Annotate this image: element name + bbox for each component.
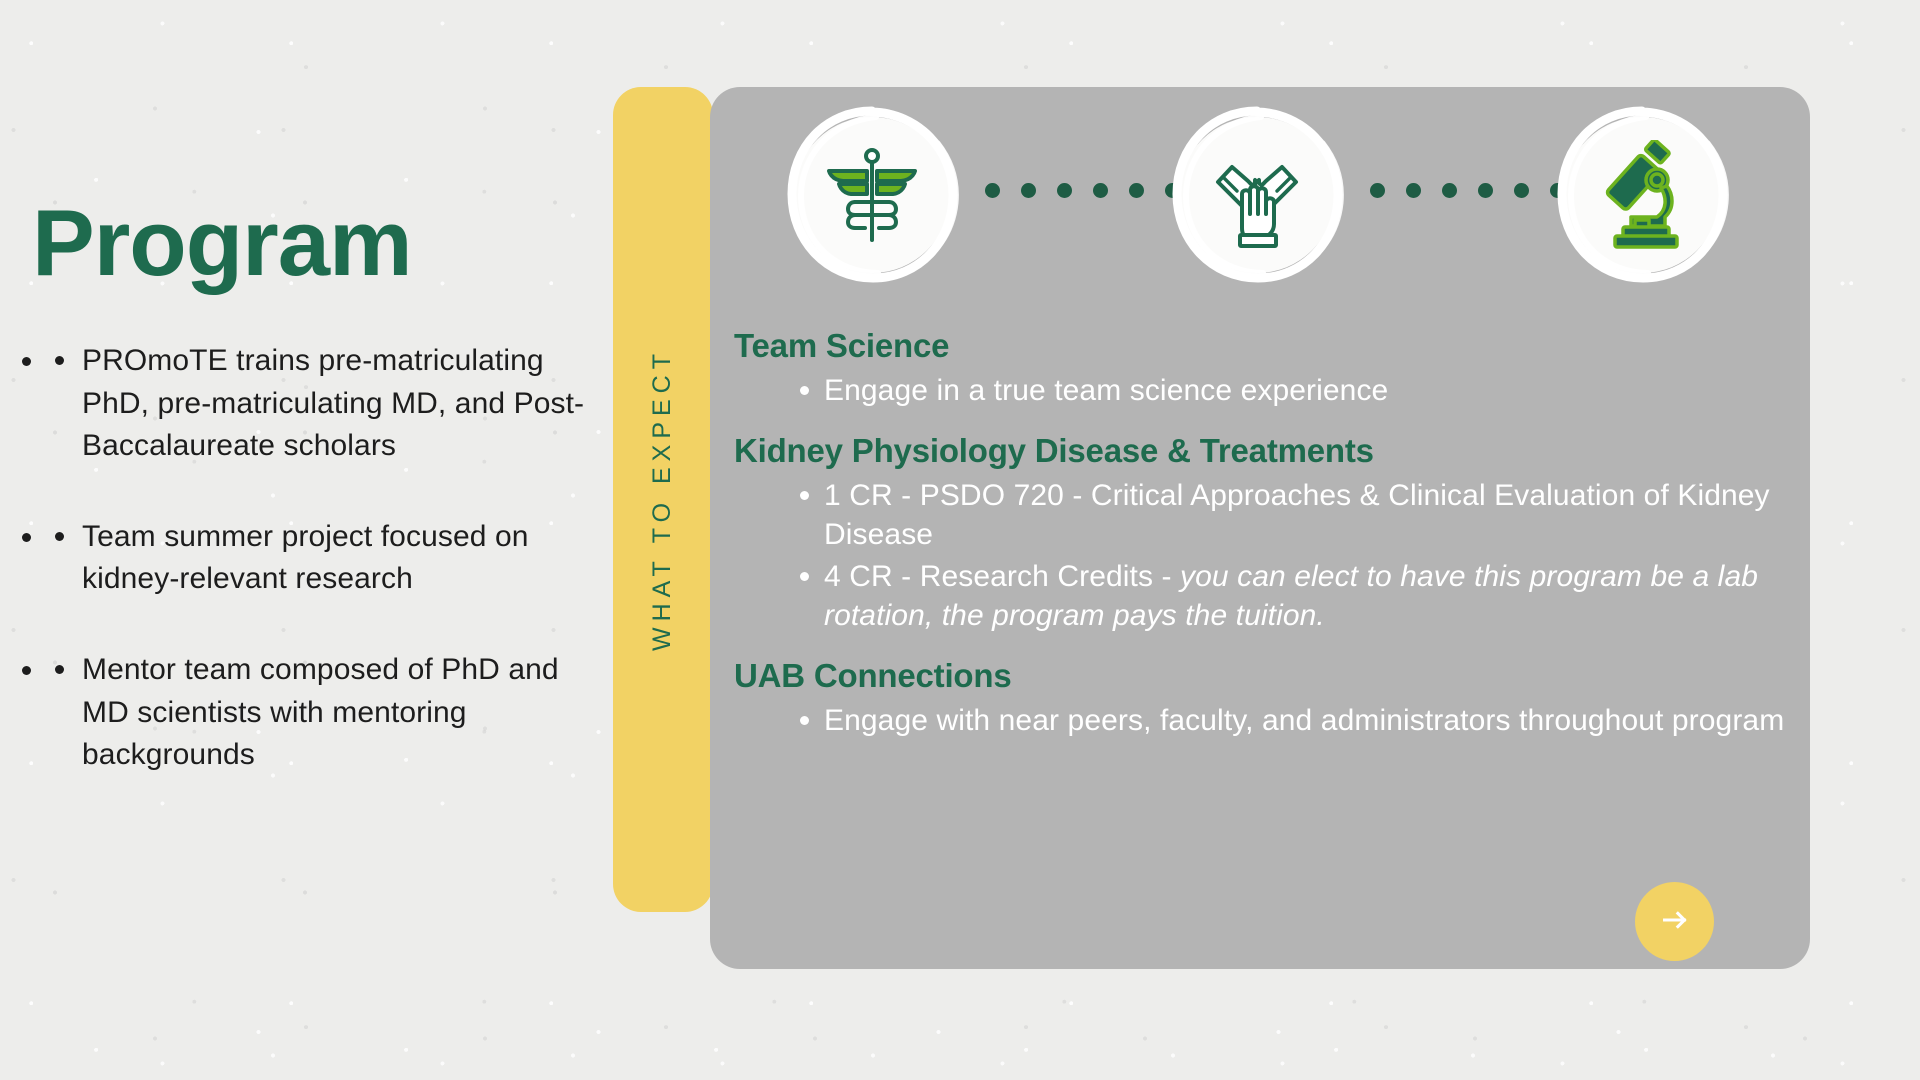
- section-item-list: Engage in a true team science experience: [796, 371, 1810, 410]
- section-item-list: 1 CR - PSDO 720 - Critical Approaches & …: [796, 476, 1810, 635]
- caduceus-badge: [772, 95, 972, 295]
- bullet-dot: [55, 356, 64, 365]
- section-item-list: Engage with near peers, faculty, and adm…: [796, 701, 1810, 740]
- section-item-text: Engage in a true team science experience: [824, 374, 1388, 407]
- section-item: 1 CR - PSDO 720 - Critical Approaches & …: [796, 476, 1810, 554]
- section-heading: UAB Connections: [734, 657, 1810, 695]
- program-bullet: Mentor team composed of PhD and MD scien…: [46, 649, 586, 777]
- section-heading: Team Science: [734, 327, 1810, 365]
- bullet-dot: [800, 572, 809, 581]
- bullet-dot: [800, 491, 809, 500]
- what-to-expect-label-wrap: WHAT TO EXPECT: [613, 87, 713, 912]
- connector-dot: [1442, 183, 1457, 198]
- connector-dot: [1514, 183, 1529, 198]
- bullet-dot: [800, 386, 809, 395]
- page-title: Program: [32, 196, 412, 290]
- panel-section: Team ScienceEngage in a true team scienc…: [710, 327, 1810, 410]
- next-slide-button[interactable]: [1635, 882, 1714, 961]
- connector-dot: [1129, 183, 1144, 198]
- program-bullet-text: Mentor team composed of PhD and MD scien…: [82, 653, 559, 771]
- panel-section: UAB ConnectionsEngage with near peers, f…: [710, 657, 1810, 740]
- program-bullet-list: PROmoTE trains pre-matriculating PhD, pr…: [46, 340, 586, 777]
- connector-dot: [985, 183, 1000, 198]
- panel-section: Kidney Physiology Disease & Treatments1 …: [710, 432, 1810, 635]
- caduceus-icon: [817, 140, 927, 250]
- program-bullet: PROmoTE trains pre-matriculating PhD, pr…: [46, 340, 586, 468]
- teamwork-hands-icon: [1202, 140, 1312, 250]
- section-item: 4 CR - Research Credits - you can elect …: [796, 557, 1810, 635]
- what-to-expect-label: WHAT TO EXPECT: [649, 348, 678, 651]
- section-item: Engage in a true team science experience: [796, 371, 1810, 410]
- what-to-expect-tab: WHAT TO EXPECT: [613, 87, 713, 912]
- left-column: Program PROmoTE trains pre-matriculating…: [0, 0, 600, 1080]
- connector-dot: [1057, 183, 1072, 198]
- program-bullet: Team summer project focused on kidney-re…: [46, 516, 586, 601]
- section-item: Engage with near peers, faculty, and adm…: [796, 701, 1810, 740]
- connector-dot: [1406, 183, 1421, 198]
- connector-dot: [1093, 183, 1108, 198]
- connector-dot: [1021, 183, 1036, 198]
- microscope-badge: [1542, 95, 1742, 295]
- bullet-dot: [55, 665, 64, 674]
- bullet-dot: [800, 716, 809, 725]
- what-to-expect-panel: Team ScienceEngage in a true team scienc…: [710, 87, 1810, 969]
- connector-dot: [1478, 183, 1493, 198]
- section-heading: Kidney Physiology Disease & Treatments: [734, 432, 1810, 470]
- slide-canvas: Program PROmoTE trains pre-matriculating…: [0, 0, 1920, 1080]
- panel-content: Team ScienceEngage in a true team scienc…: [710, 327, 1810, 743]
- program-bullet-text: PROmoTE trains pre-matriculating PhD, pr…: [82, 344, 584, 462]
- icon-row: [710, 87, 1810, 327]
- connector-dot: [1370, 183, 1385, 198]
- bullet-dot: [55, 532, 64, 541]
- teamwork-badge: [1157, 95, 1357, 295]
- section-item-text: Engage with near peers, faculty, and adm…: [824, 704, 1784, 737]
- program-bullet-text: Team summer project focused on kidney-re…: [82, 520, 529, 596]
- section-item-text: 1 CR - PSDO 720 - Critical Approaches & …: [824, 479, 1770, 551]
- section-item-text: 4 CR - Research Credits -: [824, 560, 1180, 593]
- microscope-icon: [1587, 140, 1697, 250]
- arrow-right-icon: [1656, 901, 1694, 942]
